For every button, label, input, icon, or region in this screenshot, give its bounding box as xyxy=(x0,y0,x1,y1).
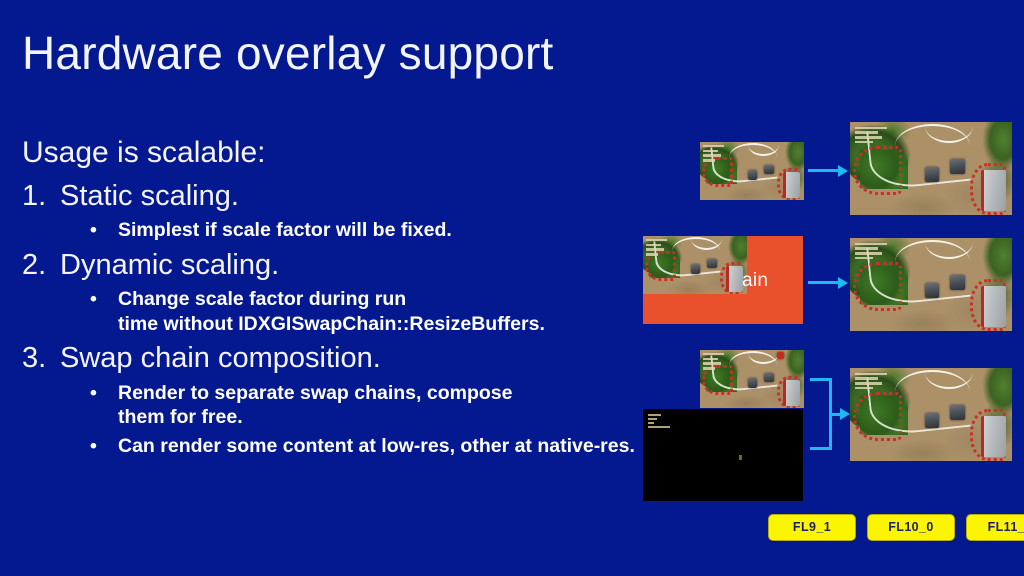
figure-area: ain xyxy=(0,0,1024,576)
badge-fl11-0[interactable]: FL11_0 xyxy=(966,514,1024,541)
overlay-text-lines xyxy=(648,414,670,430)
car-1 xyxy=(925,167,940,183)
car-2 xyxy=(707,259,716,268)
game-scene xyxy=(850,122,1012,215)
hud-overlay xyxy=(703,353,724,366)
row2-arrow-line xyxy=(808,281,840,284)
badge-fl10-0[interactable]: FL10_0 xyxy=(867,514,955,541)
hud-overlay xyxy=(855,127,887,147)
tire-barrier-left xyxy=(853,262,902,310)
row2-overlay-text: ain xyxy=(742,270,768,292)
hud-overlay xyxy=(855,373,887,393)
truck xyxy=(981,286,1005,327)
row1-source-screenshot xyxy=(700,142,804,200)
row1-arrow-line xyxy=(808,169,840,172)
truck xyxy=(783,172,800,198)
row3-source-screenshot xyxy=(700,350,804,408)
car-1 xyxy=(925,413,940,429)
game-scene xyxy=(643,236,747,294)
row3-arrow-head xyxy=(840,408,850,420)
row1-result-screenshot xyxy=(850,122,1012,215)
row3-result-screenshot xyxy=(850,368,1012,461)
car-2 xyxy=(764,373,773,382)
car-2 xyxy=(950,405,965,420)
car-1 xyxy=(748,378,757,388)
hud-overlay xyxy=(646,239,667,252)
row3-overlay-swapchain xyxy=(643,409,803,501)
car-2 xyxy=(764,165,773,174)
truck xyxy=(981,170,1005,211)
truck xyxy=(783,380,800,406)
tire-barrier-left xyxy=(853,392,902,440)
badge-fl9-1[interactable]: FL9_1 xyxy=(768,514,856,541)
slide: Hardware overlay support Usage is scalab… xyxy=(0,0,1024,576)
car-1 xyxy=(925,283,940,299)
car-2 xyxy=(950,275,965,290)
truck xyxy=(726,266,743,292)
car-1 xyxy=(691,264,700,274)
game-scene xyxy=(700,142,804,200)
row2-arrow-head xyxy=(838,277,848,289)
truck xyxy=(981,416,1005,457)
game-scene xyxy=(700,350,804,408)
hud-overlay xyxy=(855,243,887,263)
row2-source-screenshot xyxy=(643,236,747,294)
marker-red xyxy=(777,352,784,359)
row2-result-screenshot xyxy=(850,238,1012,331)
feature-level-badges: FL9_1 FL10_0 FL11_0 xyxy=(768,514,1024,541)
tire-barrier-left xyxy=(853,146,902,194)
row1-arrow-head xyxy=(838,165,848,177)
overlay-speck xyxy=(739,455,742,460)
car-1 xyxy=(748,170,757,180)
car-2 xyxy=(950,159,965,174)
game-scene xyxy=(850,238,1012,331)
hud-overlay xyxy=(703,145,724,158)
game-scene xyxy=(850,368,1012,461)
